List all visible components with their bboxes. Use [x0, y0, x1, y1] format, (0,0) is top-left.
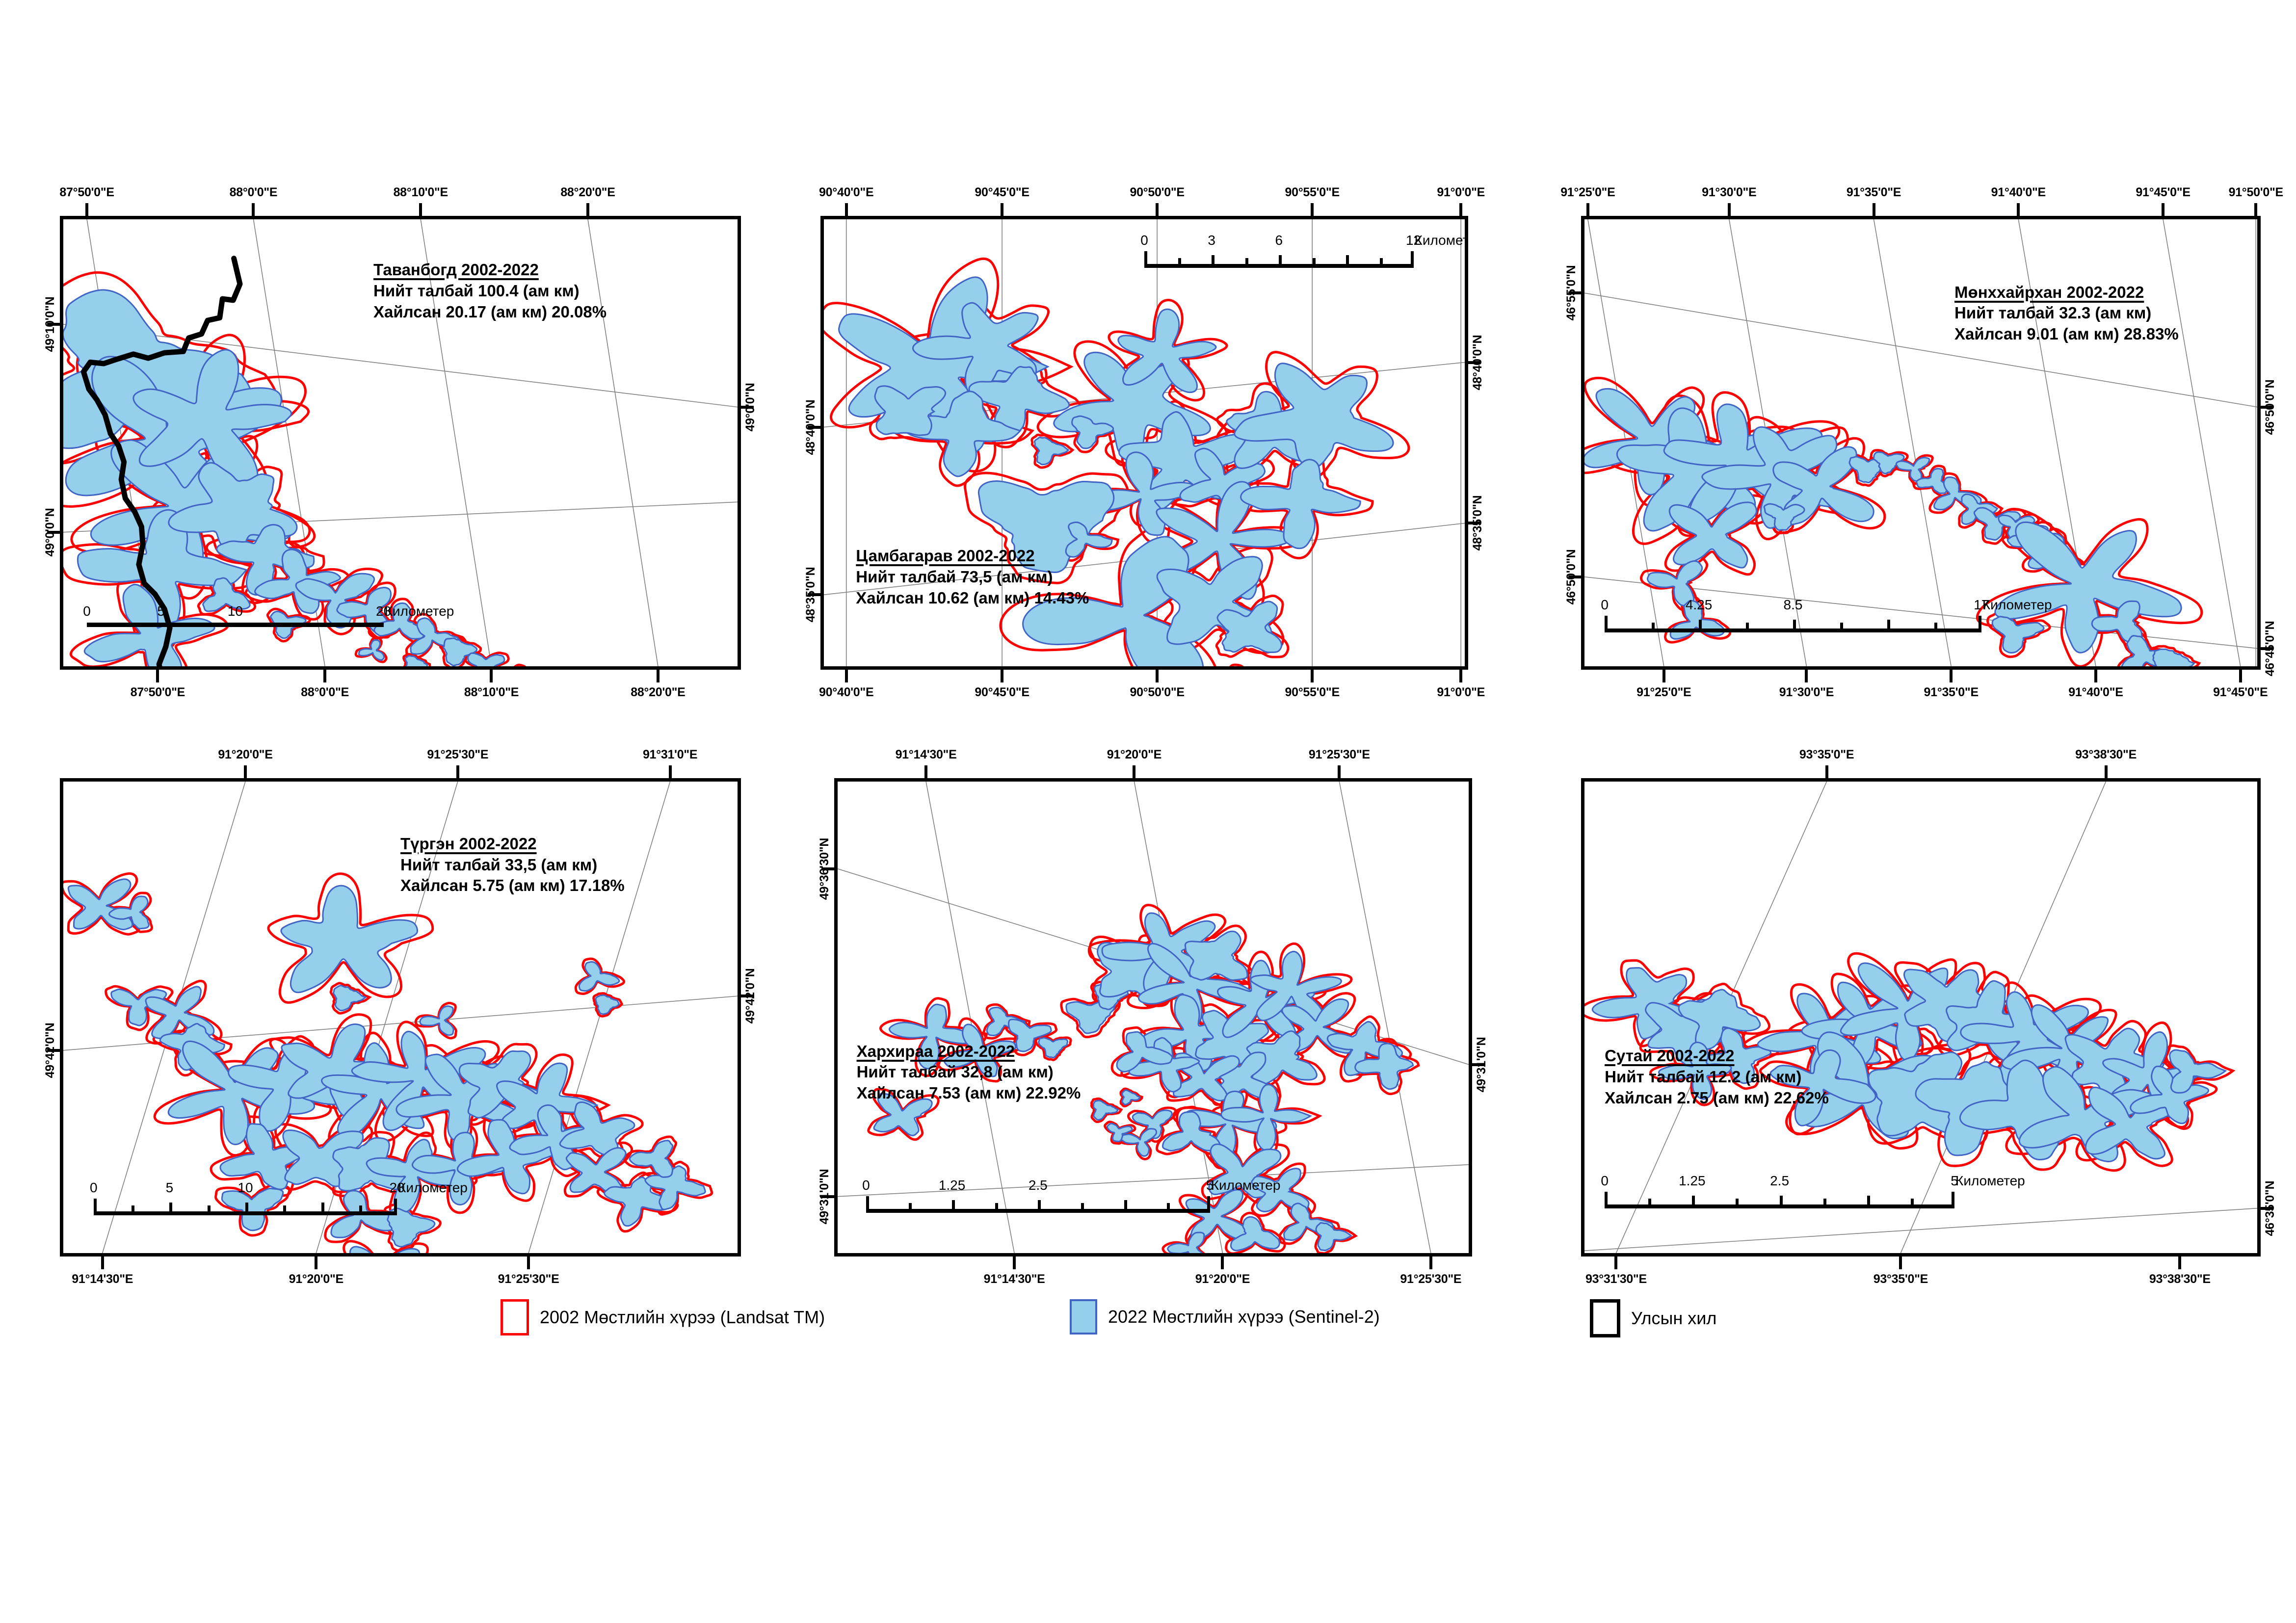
- axis-tick: [156, 670, 159, 682]
- scale-bar-tick: [1793, 620, 1796, 632]
- longitude-label-bottom: 93°35'0"E: [1874, 1272, 1928, 1286]
- axis-tick: [244, 765, 247, 778]
- longitude-label-top: 88°0'0"E: [230, 185, 278, 200]
- scale-bar-tick: [94, 1199, 97, 1215]
- scale-bar-tick: [866, 1196, 869, 1213]
- scale-bar-kharkhiraa: 01.252.55Километер: [866, 1178, 1210, 1213]
- axis-tick: [1614, 1257, 1617, 1269]
- axis-tick: [527, 1257, 530, 1269]
- longitude-label-top: 93°35'0"E: [1799, 748, 1854, 762]
- panel-melted-area-tsambagarav: Хайлсан 10.62 (ам км) 14.43%: [856, 588, 1089, 609]
- scale-tick-label: 6: [1275, 233, 1283, 248]
- scale-bar-turgen: 051020Километер: [94, 1180, 397, 1215]
- scale-unit-label: Километер: [1955, 1173, 2025, 1189]
- longitude-label-top: 91°25'30"E: [1309, 748, 1370, 762]
- scale-bar-tick: [321, 1203, 324, 1215]
- longitude-label-top: 90°55'0"E: [1285, 185, 1340, 200]
- longitude-label-bottom: 91°25'30"E: [498, 1272, 559, 1286]
- latitude-label-left: 46°55'0"N: [1564, 265, 1579, 321]
- latitude-label-left: 46°50'0"N: [1564, 549, 1579, 604]
- scale-tick-label: 5: [157, 603, 165, 619]
- axis-tick: [2017, 203, 2020, 216]
- longitude-label-top: 91°35'0"E: [1847, 185, 1901, 200]
- legend-label: 2002 Мөстлийн хүрээ (Landsat TM): [540, 1307, 825, 1328]
- longitude-label-top: 91°20'0"E: [1107, 748, 1161, 762]
- longitude-label-bottom: 91°14'30"E: [984, 1272, 1045, 1286]
- longitude-label-top: 88°20'0"E: [560, 185, 615, 200]
- axis-tick: [657, 670, 660, 682]
- longitude-label-top: 90°40'0"E: [819, 185, 873, 200]
- scale-bar-tick: [1081, 1203, 1084, 1213]
- scale-bar-tick: [1780, 1196, 1783, 1208]
- axis-tick: [1001, 203, 1003, 216]
- axis-tick: [2254, 203, 2257, 216]
- longitude-label-bottom: 91°20'0"E: [289, 1272, 343, 1286]
- longitude-label-bottom: 90°40'0"E: [819, 685, 873, 700]
- axis-tick: [1805, 670, 1808, 682]
- panel-total-area-kharkhiraa: Нийт талбай 32,8 (ам км): [857, 1062, 1081, 1083]
- latitude-label-left: 49°0'0"N: [43, 508, 57, 556]
- legend-label: 2022 Мөстлийн хүрээ (Sentinel-2): [1108, 1307, 1380, 1327]
- map-panel-kharkhiraa: Хархираа 2002-2022Нийт талбай 32,8 (ам к…: [834, 778, 1472, 1257]
- latitude-label-right: 49°42'0"N: [743, 969, 758, 1024]
- longitude-label-bottom: 88°0'0"E: [301, 685, 349, 700]
- scale-bar-tick: [1911, 1199, 1914, 1208]
- scale-bar-tick: [1840, 623, 1843, 632]
- scale-bar-tick: [1648, 1199, 1651, 1208]
- legend-swatch-2022: [1070, 1299, 1097, 1335]
- panel-title-sutai: Сутай 2002-2022: [1605, 1046, 1829, 1067]
- axis-tick: [1429, 1257, 1432, 1269]
- longitude-label-top: 87°50'0"E: [59, 185, 114, 200]
- longitude-label-top: 91°40'0"E: [1991, 185, 2046, 200]
- scale-bar-tick: [1699, 620, 1702, 632]
- scale-bar-tick: [1178, 258, 1181, 268]
- axis-tick: [2178, 1257, 2181, 1269]
- longitude-label-top: 91°0'0"E: [1437, 185, 1485, 200]
- legend-swatch-border: [1590, 1299, 1620, 1337]
- scale-bar-tick: [1823, 1199, 1826, 1208]
- longitude-label-bottom: 91°45'0"E: [2213, 685, 2268, 700]
- longitude-label-bottom: 91°30'0"E: [1779, 685, 1834, 700]
- longitude-label-top: 91°50'0"E: [2229, 185, 2283, 200]
- longitude-label-top: 90°45'0"E: [975, 185, 1029, 200]
- longitude-label-bottom: 88°20'0"E: [631, 685, 685, 700]
- latitude-label-right: 49°0'0"N: [743, 383, 758, 431]
- map-frame-kharkhiraa: Хархираа 2002-2022Нийт талбай 32,8 (ам к…: [834, 778, 1472, 1257]
- scale-tick-label: 10: [238, 1180, 253, 1196]
- scale-bar-tick: [995, 1203, 998, 1213]
- legend-item-0: 2002 Мөстлийн хүрээ (Landsat TM): [501, 1299, 825, 1335]
- axis-tick: [2162, 203, 2164, 216]
- axis-tick: [1950, 670, 1953, 682]
- legend-label: Улсын хил: [1631, 1308, 1716, 1329]
- scale-bar-tick: [1038, 1200, 1041, 1213]
- scale-tick-label: 0: [1140, 233, 1148, 248]
- axis-tick: [2105, 765, 2108, 778]
- panel-info-block-turgen: Түргэн 2002-2022Нийт талбай 33,5 (ам км)…: [400, 834, 625, 897]
- latitude-label-right: 46°45'0"N: [2263, 621, 2277, 676]
- scale-bar-tick: [1411, 251, 1414, 268]
- longitude-label-bottom: 90°45'0"E: [975, 685, 1029, 700]
- scale-bar-tick: [359, 1205, 362, 1215]
- panel-melted-area-turgen: Хайлсан 5.75 (ам км) 17.18%: [400, 875, 625, 896]
- panel-title-kharkhiraa: Хархираа 2002-2022: [857, 1041, 1081, 1062]
- legend-item-2: Улсын хил: [1590, 1299, 1716, 1337]
- scale-bar-tick: [1144, 251, 1147, 268]
- scale-bar-tick: [1736, 1199, 1739, 1208]
- axis-tick: [845, 203, 848, 216]
- map-frame-sutai: Сутай 2002-2022Нийт талбай 12.2 (ам км)Х…: [1581, 778, 2261, 1257]
- panel-melted-area-munkhkhairkhan: Хайлсан 9.01 (ам км) 28.83%: [1954, 324, 2179, 345]
- panel-title-tsambagarav: Цамбагарав 2002-2022: [856, 546, 1089, 567]
- map-panel-tavanbogd: Таванбогд 2002-2022Нийт талбай 100.4 (ам…: [60, 216, 741, 670]
- longitude-label-top: 91°25'30"E: [427, 748, 488, 762]
- glacier-change-map-figure: Таванбогд 2002-2022Нийт талбай 100.4 (ам…: [0, 0, 2296, 1623]
- scale-tick-label: 0: [83, 603, 91, 619]
- map-frame-tsambagarav: Цамбагарав 2002-2022Нийт талбай 73,5 (ам…: [820, 216, 1468, 670]
- scale-bar-tick: [1605, 616, 1608, 632]
- panel-total-area-turgen: Нийт талбай 33,5 (ам км): [400, 855, 625, 876]
- axis-tick: [1156, 203, 1159, 216]
- scale-unit-label: Километер: [385, 603, 454, 619]
- longitude-label-top: 91°25'0"E: [1560, 185, 1615, 200]
- axis-tick: [85, 203, 88, 216]
- scale-bar-tick: [1887, 620, 1890, 632]
- scale-bar-tick: [1313, 258, 1316, 268]
- panel-total-area-tavanbogd: Нийт талбай 100.4 (ам км): [373, 281, 607, 302]
- scale-bar-tick: [1867, 1196, 1870, 1208]
- panel-melted-area-kharkhiraa: Хайлсан 7.53 (ам км) 22.92%: [857, 1083, 1081, 1104]
- scale-bar-tick: [952, 1200, 955, 1213]
- axis-tick: [1899, 1257, 1902, 1269]
- longitude-label-bottom: 90°50'0"E: [1130, 685, 1184, 700]
- axis-tick: [1133, 765, 1135, 778]
- scale-tick-label: 10: [228, 603, 243, 619]
- scale-tick-label: 1.25: [1679, 1173, 1706, 1189]
- scale-tick-label: 0: [862, 1178, 870, 1193]
- legend-swatch-2002: [501, 1299, 529, 1335]
- scale-tick-label: 3: [1208, 233, 1215, 248]
- scale-tick-label: 2.5: [1770, 1173, 1789, 1189]
- longitude-label-bottom: 88°10'0"E: [464, 685, 519, 700]
- axis-tick: [1013, 1257, 1016, 1269]
- axis-tick: [1221, 1257, 1224, 1269]
- panel-total-area-sutai: Нийт талбай 12.2 (ам км): [1605, 1067, 1829, 1088]
- latitude-label-right: 48°40'0"N: [1471, 335, 1485, 390]
- scale-bar-tick: [1346, 255, 1349, 268]
- latitude-label-left: 48°40'0"N: [804, 399, 818, 455]
- axis-tick: [1663, 670, 1665, 682]
- scale-bar-tick: [1746, 623, 1749, 632]
- panel-info-block-sutai: Сутай 2002-2022Нийт талбай 12.2 (ам км)Х…: [1605, 1046, 1829, 1109]
- latitude-label-left: 49°31'0"N: [818, 1169, 832, 1224]
- longitude-label-top: 91°30'0"E: [1702, 185, 1756, 200]
- latitude-label-right: 46°35'0"N: [2263, 1180, 2277, 1236]
- axis-tick: [101, 1257, 104, 1269]
- scale-unit-label: Километер: [1415, 233, 1468, 248]
- panel-title-munkhkhairkhan: Мөнххайрхан 2002-2022: [1954, 282, 2179, 303]
- panel-title-turgen: Түргэн 2002-2022: [400, 834, 625, 855]
- longitude-label-bottom: 93°31'30"E: [1585, 1272, 1647, 1286]
- scale-bar-sutai: 01.252.55Километер: [1605, 1173, 1954, 1208]
- scale-tick-label: 0: [90, 1180, 98, 1196]
- axis-tick: [419, 203, 422, 216]
- map-frame-turgen: Түргэн 2002-2022Нийт талбай 33,5 (ам км)…: [60, 778, 741, 1257]
- longitude-label-top: 88°10'0"E: [394, 185, 448, 200]
- scale-bar-tick: [394, 1199, 397, 1215]
- longitude-label-bottom: 90°55'0"E: [1285, 685, 1340, 700]
- scale-bar-tick: [208, 1205, 211, 1215]
- scale-unit-label: Километер: [1982, 597, 2052, 613]
- axis-tick: [1586, 203, 1589, 216]
- axis-tick: [669, 765, 672, 778]
- scale-bar-tick: [1279, 255, 1282, 268]
- axis-tick: [924, 765, 927, 778]
- scale-bar-tick: [1692, 1196, 1695, 1208]
- scale-bar-tick: [1652, 623, 1655, 632]
- longitude-label-top: 91°31'0"E: [643, 748, 697, 762]
- scale-bar-tick: [1245, 258, 1248, 268]
- latitude-label-right: 48°35'0"N: [1471, 496, 1485, 551]
- axis-tick: [1825, 765, 1828, 778]
- panel-info-block-tsambagarav: Цамбагарав 2002-2022Нийт талбай 73,5 (ам…: [856, 546, 1089, 609]
- scale-bar-line: [87, 623, 384, 627]
- scale-bar-tick: [1207, 1196, 1210, 1213]
- longitude-label-bottom: 91°40'0"E: [2068, 685, 2123, 700]
- scale-tick-label: 4.25: [1686, 597, 1713, 613]
- axis-tick: [1459, 203, 1462, 216]
- scale-tick-label: 8.5: [1784, 597, 1803, 613]
- latitude-label-left: 49°42'0"N: [43, 1022, 57, 1078]
- axis-tick: [1311, 670, 1314, 682]
- scale-bar-tick: [132, 1205, 134, 1215]
- axis-tick: [323, 670, 326, 682]
- longitude-label-bottom: 91°0'0"E: [1437, 685, 1485, 700]
- axis-tick: [456, 765, 459, 778]
- scale-bar-tick: [1167, 1203, 1170, 1213]
- axis-tick: [1311, 203, 1314, 216]
- scale-bar-tick: [283, 1205, 286, 1215]
- axis-tick: [586, 203, 589, 216]
- axis-tick: [1156, 670, 1159, 682]
- scale-unit-label: Километер: [398, 1180, 468, 1196]
- longitude-label-top: 90°50'0"E: [1130, 185, 1184, 200]
- longitude-label-bottom: 87°50'0"E: [131, 685, 185, 700]
- panel-info-block-munkhkhairkhan: Мөнххайрхан 2002-2022Нийт талбай 32.3 (а…: [1954, 282, 2179, 345]
- longitude-label-bottom: 91°25'30"E: [1400, 1272, 1461, 1286]
- axis-tick: [2239, 670, 2242, 682]
- scale-bar-tick: [1212, 255, 1214, 268]
- longitude-label-top: 93°38'30"E: [2075, 748, 2137, 762]
- latitude-label-left: 48°35'0"N: [804, 567, 818, 623]
- scale-bar-munkhkhairkhan: 04.258.517Километер: [1605, 597, 1981, 632]
- scale-tick-label: 0: [1601, 1173, 1609, 1189]
- map-panel-munkhkhairkhan: Мөнххайрхан 2002-2022Нийт талбай 32.3 (а…: [1581, 216, 2261, 670]
- scale-tick-label: 1.25: [939, 1178, 966, 1193]
- longitude-label-bottom: 93°38'30"E: [2149, 1272, 2211, 1286]
- longitude-label-top: 91°20'0"E: [218, 748, 272, 762]
- scale-bar-tsambagarav: 03612Километер: [1144, 233, 1414, 268]
- scale-bar-tick: [245, 1203, 248, 1215]
- axis-tick: [490, 670, 493, 682]
- panel-info-block-kharkhiraa: Хархираа 2002-2022Нийт талбай 32,8 (ам к…: [857, 1041, 1081, 1104]
- longitude-label-top: 91°45'0"E: [2136, 185, 2190, 200]
- panel-total-area-tsambagarav: Нийт талбай 73,5 (ам км): [856, 567, 1089, 588]
- scale-bar-tick: [1979, 616, 1981, 632]
- latitude-label-left: 49°10'0"N: [43, 297, 57, 352]
- map-panel-sutai: Сутай 2002-2022Нийт талбай 12.2 (ам км)Х…: [1581, 778, 2261, 1257]
- map-frame-munkhkhairkhan: Мөнххайрхан 2002-2022Нийт талбай 32.3 (а…: [1581, 216, 2261, 670]
- panel-melted-area-sutai: Хайлсан 2.75 (ам км) 22.62%: [1605, 1088, 1829, 1109]
- longitude-label-bottom: 91°14'30"E: [72, 1272, 133, 1286]
- scale-bar-tick: [1934, 623, 1937, 632]
- scale-tick-label: 0: [1601, 597, 1609, 613]
- axis-tick: [1001, 670, 1003, 682]
- panel-title-tavanbogd: Таванбогд 2002-2022: [373, 260, 607, 281]
- map-panel-tsambagarav: Цамбагарав 2002-2022Нийт талбай 73,5 (ам…: [820, 216, 1468, 670]
- latitude-label-right: 49°31'0"N: [1475, 1037, 1489, 1092]
- panel-info-block-tavanbogd: Таванбогд 2002-2022Нийт талбай 100.4 (ам…: [373, 260, 607, 323]
- scale-bar-tick: [1952, 1192, 1954, 1208]
- panel-total-area-munkhkhairkhan: Нийт талбай 32.3 (ам км): [1954, 303, 2179, 324]
- map-frame-tavanbogd: Таванбогд 2002-2022Нийт талбай 100.4 (ам…: [60, 216, 741, 670]
- scale-unit-label: Километер: [1211, 1178, 1281, 1193]
- axis-tick: [1728, 203, 1731, 216]
- axis-tick: [1873, 203, 1875, 216]
- longitude-label-bottom: 91°25'0"E: [1636, 685, 1691, 700]
- scale-bar-tick: [909, 1203, 912, 1213]
- scale-bar-tick: [1380, 258, 1383, 268]
- scale-tick-label: 2.5: [1029, 1178, 1048, 1193]
- scale-tick-label: 5: [166, 1180, 174, 1196]
- axis-tick: [315, 1257, 317, 1269]
- axis-tick: [845, 670, 848, 682]
- scale-bar-tavanbogd: 051020Километер: [87, 603, 384, 627]
- scale-bar-tick: [1124, 1200, 1127, 1213]
- scale-bar-tick: [169, 1203, 172, 1215]
- longitude-label-bottom: 91°35'0"E: [1924, 685, 1979, 700]
- legend-item-1: 2022 Мөстлийн хүрээ (Sentinel-2): [1070, 1299, 1380, 1335]
- axis-tick: [1338, 765, 1341, 778]
- map-panel-turgen: Түргэн 2002-2022Нийт талбай 33,5 (ам км)…: [60, 778, 741, 1257]
- latitude-label-left: 49°36'30"N: [818, 838, 832, 900]
- axis-tick: [1459, 670, 1462, 682]
- longitude-label-top: 91°14'30"E: [896, 748, 957, 762]
- panel-melted-area-tavanbogd: Хайлсан 20.17 (ам км) 20.08%: [373, 302, 607, 323]
- longitude-label-bottom: 91°20'0"E: [1195, 1272, 1250, 1286]
- scale-bar-tick: [1605, 1192, 1608, 1208]
- axis-tick: [252, 203, 255, 216]
- axis-tick: [2094, 670, 2097, 682]
- latitude-label-right: 46°50'0"N: [2263, 379, 2277, 435]
